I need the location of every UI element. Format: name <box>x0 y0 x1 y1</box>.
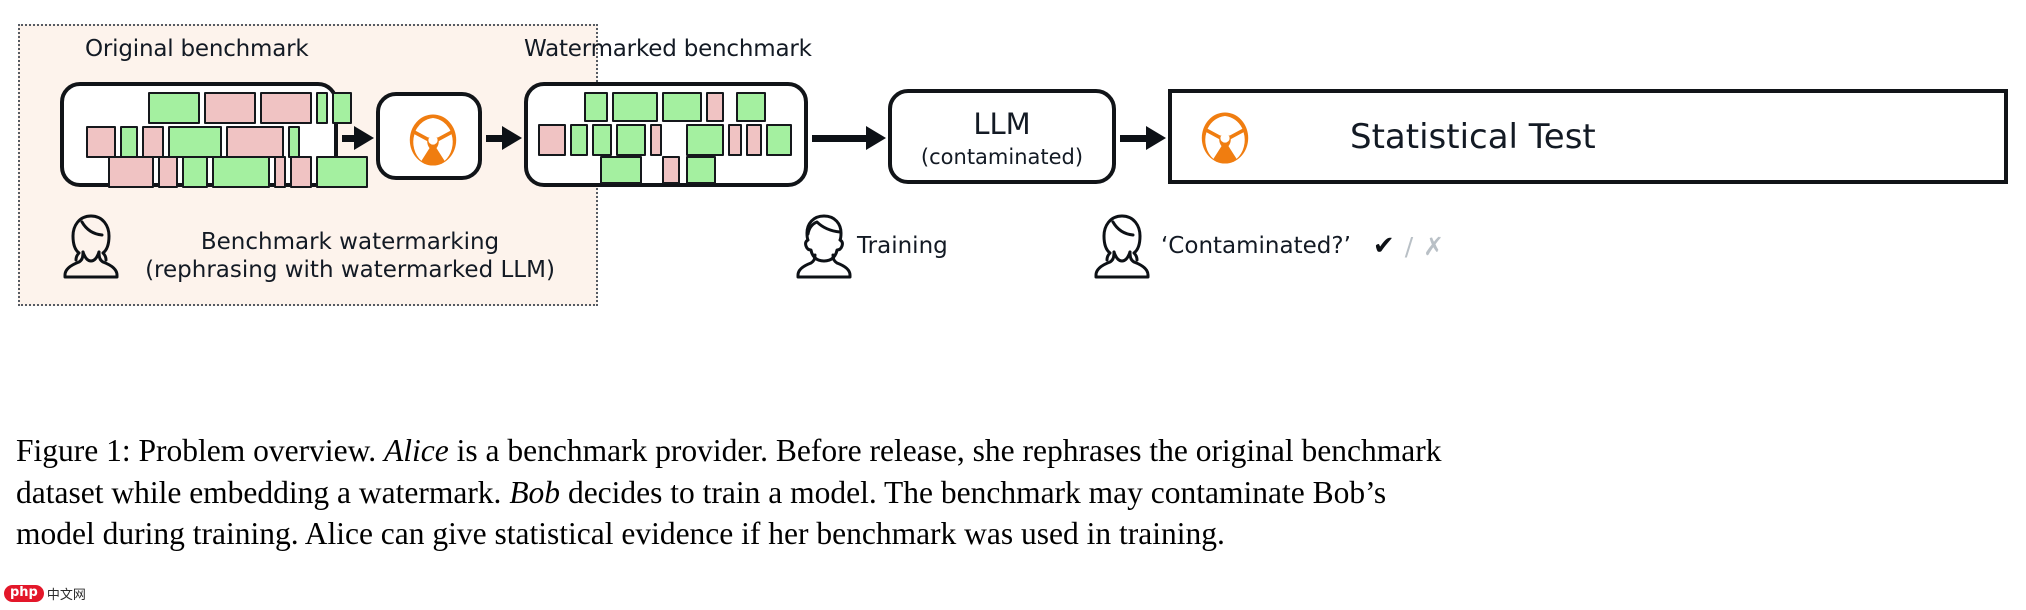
token-block <box>142 126 164 158</box>
caption-part2: is a benchmark provider. Before release,… <box>449 433 1442 468</box>
alice-verdict-row: ‘Contaminated?’ ✔ / ✗ <box>1093 212 1444 280</box>
php-logo-cn-label: 中文网 <box>47 584 86 603</box>
token-block <box>736 92 766 122</box>
token-block <box>86 126 116 158</box>
token-block <box>316 156 368 188</box>
token-block <box>650 124 662 156</box>
figure-caption: Figure 1: Problem overview. Alice is a b… <box>16 430 2012 555</box>
token-block <box>616 124 646 156</box>
token-block <box>686 124 724 156</box>
php-watermark: php 中文网 <box>4 584 86 603</box>
radioactive-icon <box>404 111 462 169</box>
token-block <box>158 156 178 188</box>
alice-avatar-row <box>62 212 120 280</box>
verdict-separator: / <box>1405 232 1413 261</box>
llm-contaminated-card[interactable]: LLM (contaminated) <box>888 89 1116 184</box>
token-block <box>662 156 680 184</box>
token-block <box>290 156 312 188</box>
watermarked-benchmark-card[interactable] <box>524 82 808 187</box>
token-block <box>600 156 642 184</box>
token-block <box>332 92 352 124</box>
watermarked-benchmark-label: Watermarked benchmark <box>524 36 812 62</box>
original-benchmark-card[interactable] <box>60 82 338 187</box>
token-block <box>212 156 270 188</box>
token-block <box>316 92 328 124</box>
token-block <box>274 156 286 188</box>
radioactive-icon <box>1196 109 1254 167</box>
male-person-icon <box>795 212 853 280</box>
token-block <box>108 156 154 188</box>
statistical-test-label: Statistical Test <box>1350 117 1596 157</box>
verdict-check-icon: ✔ <box>1373 231 1395 261</box>
token-block <box>612 92 658 122</box>
contaminated-question-label: ‘Contaminated?’ <box>1161 233 1351 259</box>
alice-caption: Benchmark watermarking (rephrasing with … <box>130 228 570 284</box>
llm-title: LLM <box>892 107 1112 141</box>
token-block <box>662 92 702 122</box>
alice-caption-line1: Benchmark watermarking <box>130 228 570 256</box>
verdict-cross-icon: ✗ <box>1423 232 1444 261</box>
token-block <box>584 92 608 122</box>
token-block <box>204 92 256 124</box>
caption-alice: Alice <box>384 433 449 468</box>
statistical-test-card[interactable]: Statistical Test <box>1168 89 2008 184</box>
token-block <box>260 92 312 124</box>
alice-caption-line2: (rephrasing with watermarked LLM) <box>130 256 570 284</box>
caption-line3: model during training. Alice can give st… <box>16 513 2012 555</box>
token-block <box>592 124 612 156</box>
token-block <box>182 156 208 188</box>
token-block <box>538 124 566 156</box>
token-block <box>746 124 762 156</box>
token-block <box>288 126 300 158</box>
figure-root: Original benchmark Watermarked benchmark… <box>0 0 2026 610</box>
caption-bob: Bob <box>509 475 560 510</box>
training-label: Training <box>857 233 948 259</box>
token-block <box>728 124 742 156</box>
female-person-icon <box>1093 212 1151 280</box>
token-block <box>686 156 716 184</box>
llm-subtitle: (contaminated) <box>892 145 1112 169</box>
caption-line2-b: decides to train a model. The benchmark … <box>560 475 1386 510</box>
female-person-icon <box>62 212 120 280</box>
token-block <box>706 92 724 122</box>
bob-avatar-row: Training <box>795 212 948 280</box>
token-block <box>168 126 222 158</box>
watermarking-llm-card[interactable] <box>376 92 482 180</box>
token-block <box>226 126 284 158</box>
token-block <box>120 126 138 158</box>
php-logo-label: php <box>4 585 44 602</box>
token-block <box>766 124 792 156</box>
token-block <box>570 124 588 156</box>
caption-line2-a: dataset while embedding a watermark. <box>16 475 509 510</box>
token-block <box>148 92 200 124</box>
original-benchmark-label: Original benchmark <box>85 36 309 62</box>
caption-prefix: Figure 1: Problem overview. <box>16 433 384 468</box>
